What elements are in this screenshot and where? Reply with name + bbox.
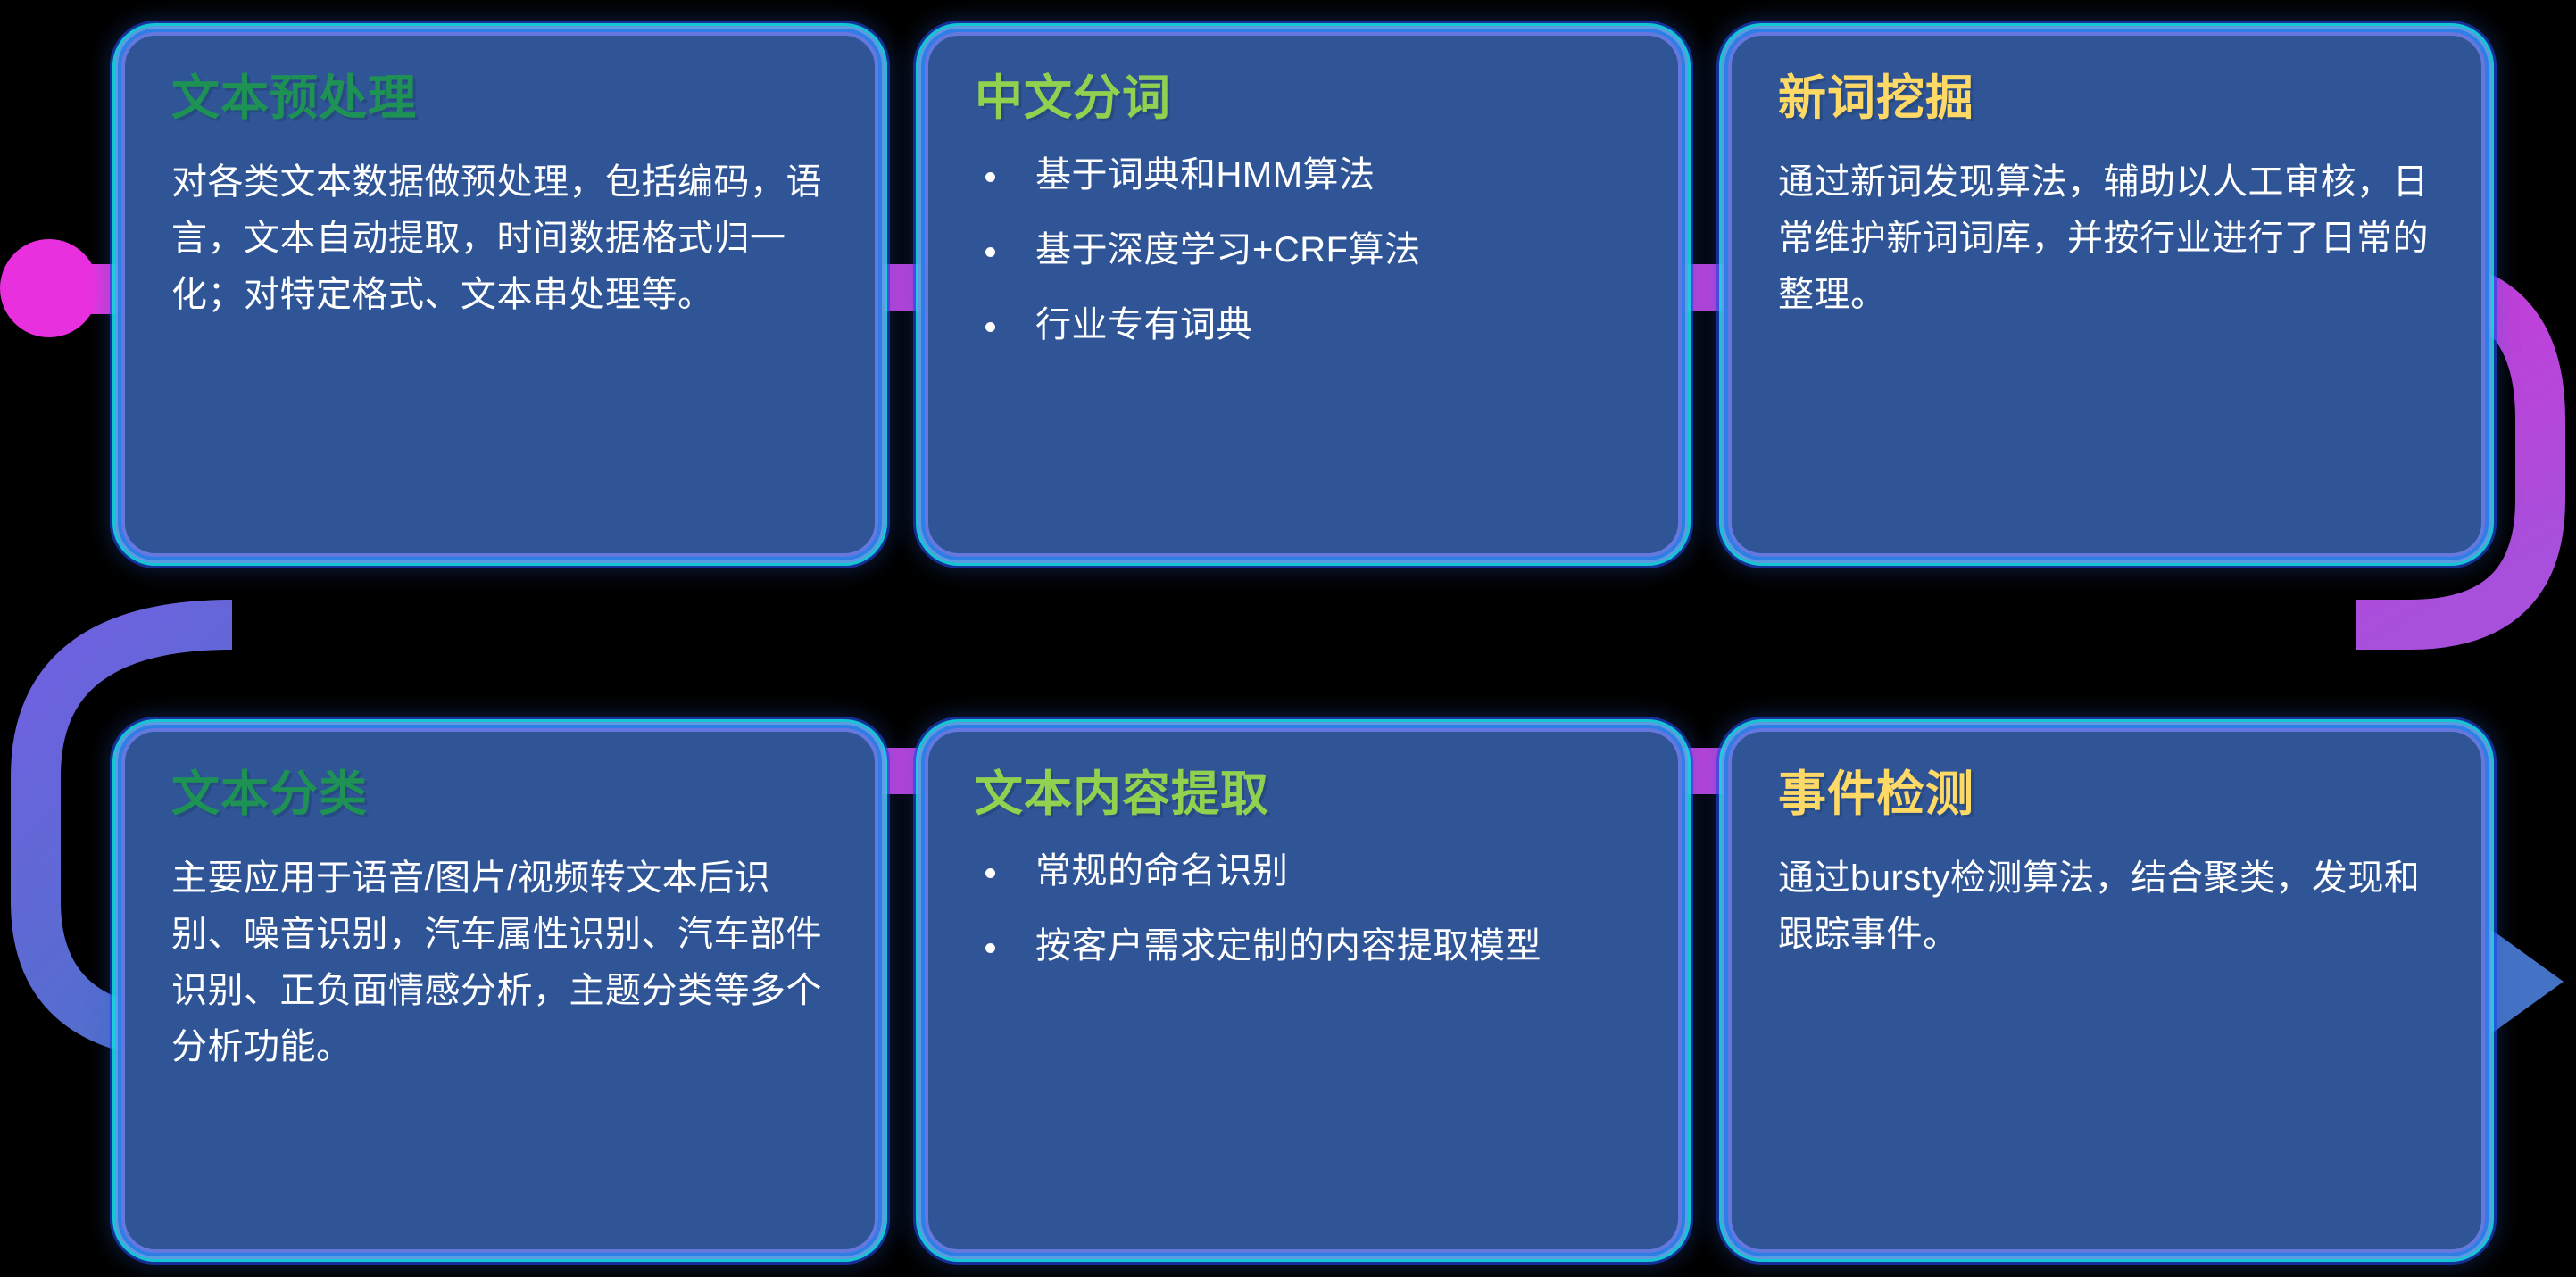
card-event-detection[interactable]: 事件检测 通过bursty检测算法，结合聚类，发现和跟踪事件。: [1732, 732, 2481, 1249]
card-title: 新词挖掘: [1778, 73, 2435, 124]
card-text-preprocessing[interactable]: 文本预处理 对各类文本数据做预处理，包括编码，语言，文本自动提取，时间数据格式归…: [125, 36, 875, 553]
card-body-text: 通过bursty检测算法，结合聚类，发现和跟踪事件。: [1778, 850, 2435, 963]
start-dot-icon: [0, 239, 98, 337]
list-item: 行业专有词典: [975, 304, 1632, 345]
list-item: 按客户需求定制的内容提取模型: [975, 925, 1632, 966]
card-chinese-word-segmentation[interactable]: 中文分词 基于词典和HMM算法 基于深度学习+CRF算法 行业专有词典: [928, 36, 1678, 553]
list-item: 常规的命名识别: [975, 850, 1632, 891]
card-text-classification[interactable]: 文本分类 主要应用于语音/图片/视频转文本后识别、噪音识别，汽车属性识别、汽车部…: [125, 732, 875, 1249]
card-bullet-list: 常规的命名识别 按客户需求定制的内容提取模型: [975, 850, 1632, 966]
card-new-word-discovery[interactable]: 新词挖掘 通过新词发现算法，辅助以人工审核，日常维护新词词库，并按行业进行了日常…: [1732, 36, 2481, 553]
diagram-canvas: 文本预处理 对各类文本数据做预处理，包括编码，语言，文本自动提取，时间数据格式归…: [0, 0, 2576, 1277]
card-body-text: 主要应用于语音/图片/视频转文本后识别、噪音识别，汽车属性识别、汽车部件识别、正…: [171, 850, 828, 1076]
card-title: 中文分词: [975, 73, 1632, 124]
card-text-content-extraction[interactable]: 文本内容提取 常规的命名识别 按客户需求定制的内容提取模型: [928, 732, 1678, 1249]
card-body-text: 对各类文本数据做预处理，包括编码，语言，文本自动提取，时间数据格式归一化；对特定…: [171, 154, 828, 324]
card-title: 事件检测: [1778, 769, 2435, 820]
card-title: 文本内容提取: [975, 769, 1632, 820]
card-bullet-list: 基于词典和HMM算法 基于深度学习+CRF算法 行业专有词典: [975, 154, 1632, 345]
end-arrow-icon: [2487, 926, 2564, 1037]
list-item: 基于词典和HMM算法: [975, 154, 1632, 195]
card-title: 文本预处理: [171, 73, 828, 124]
card-body-text: 通过新词发现算法，辅助以人工审核，日常维护新词词库，并按行业进行了日常的整理。: [1778, 154, 2435, 324]
list-item: 基于深度学习+CRF算法: [975, 229, 1632, 270]
card-title: 文本分类: [171, 769, 828, 820]
